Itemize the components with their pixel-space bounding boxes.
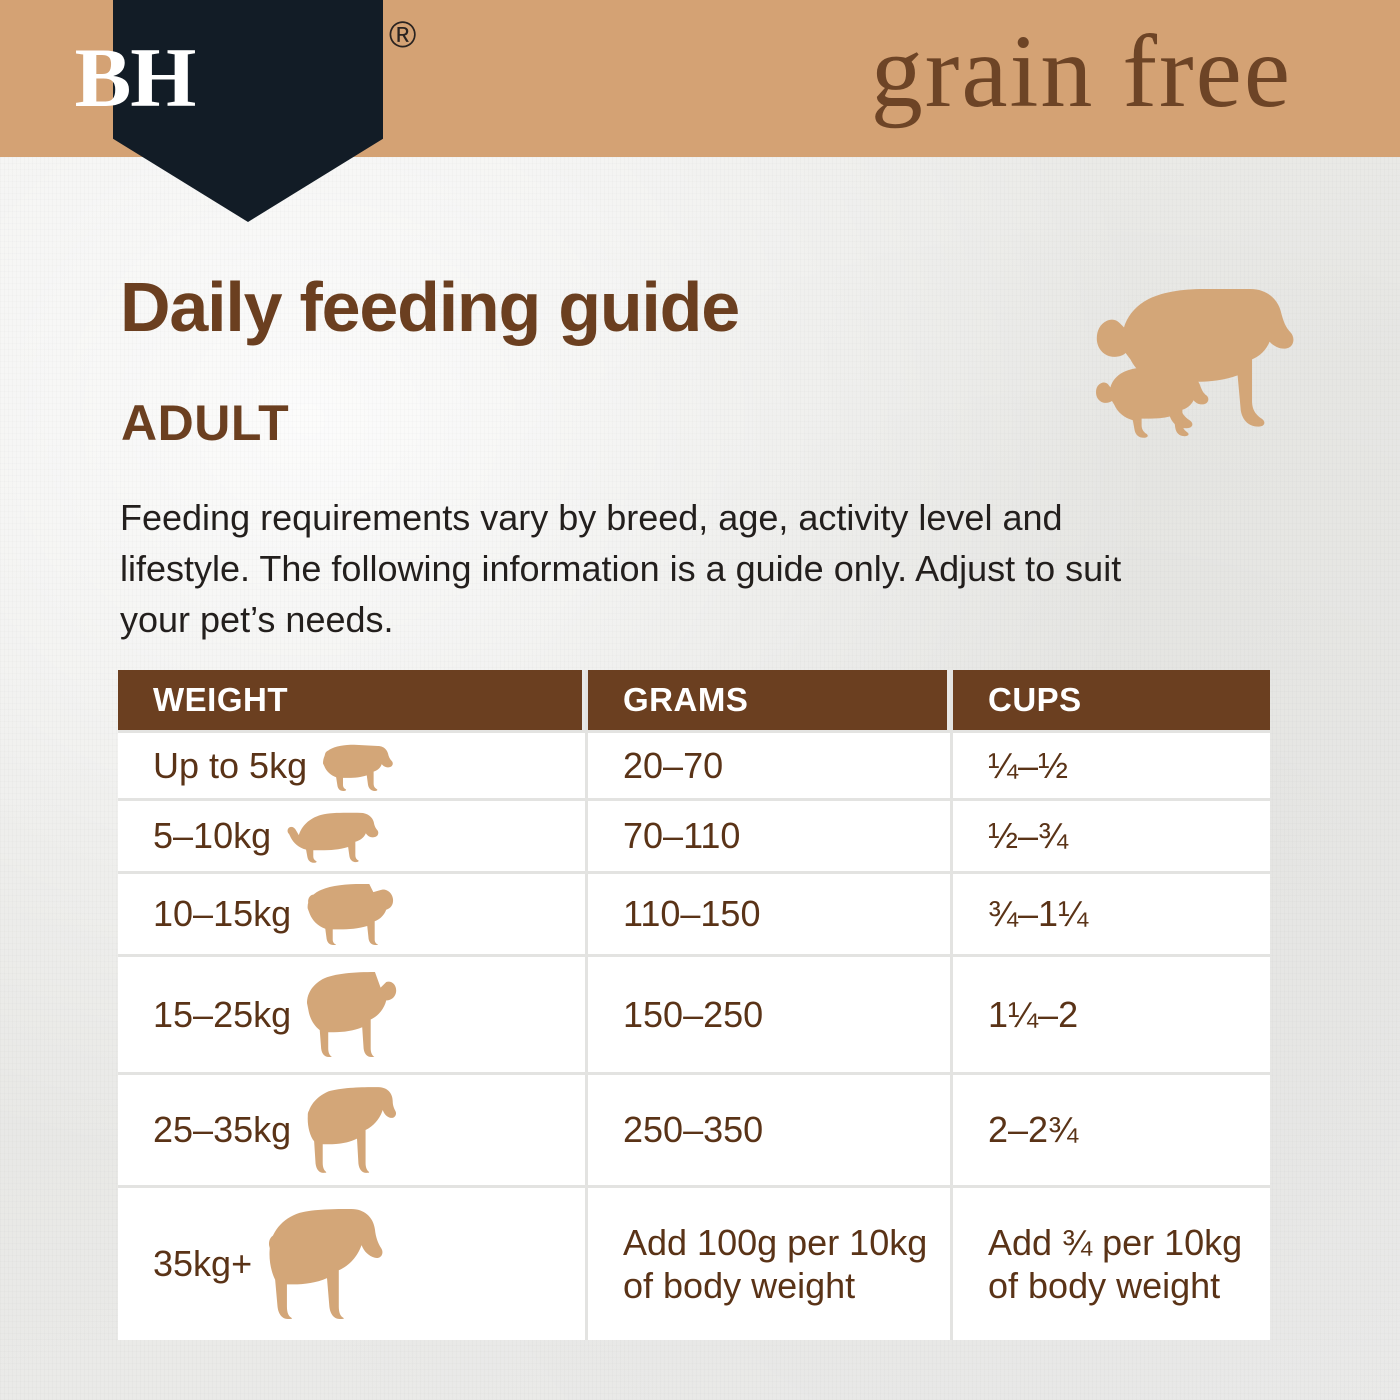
column-header-cups: CUPS: [950, 670, 1270, 730]
cell-grams: 20–70: [585, 733, 950, 798]
cell-grams: 250–350: [585, 1075, 950, 1185]
registered-trademark-icon: ®: [389, 16, 416, 53]
cell-cups: ¼–½: [950, 733, 1270, 798]
table-row: 10–15kg 110–150 ¾–1¼: [118, 871, 1270, 954]
intro-paragraph: Feeding requirements vary by breed, age,…: [120, 492, 1190, 645]
table-header-row: WEIGHT GRAMS CUPS: [118, 670, 1270, 730]
weight-label: 5–10kg: [153, 815, 271, 857]
cell-cups: ½–¾: [950, 801, 1270, 871]
cell-grams: Add 100g per 10kg of body weight: [585, 1188, 950, 1340]
cell-grams: 70–110: [585, 801, 950, 871]
brand-shield-label: BH: [0, 36, 270, 121]
weight-label: 15–25kg: [153, 994, 291, 1036]
weight-label: Up to 5kg: [153, 745, 307, 787]
small-dog-icon: [317, 741, 585, 791]
dachshund-dog-icon: [281, 810, 585, 863]
page-title: Daily feeding guide: [120, 272, 739, 342]
cell-weight: 5–10kg: [118, 801, 585, 871]
table-row: 15–25kg 150–250 1¼–2: [118, 954, 1270, 1072]
cell-weight: Up to 5kg: [118, 733, 585, 798]
cups-line-1: Add ¾ per 10kg: [988, 1221, 1242, 1264]
cups-line-2: of body weight: [988, 1264, 1220, 1307]
grams-line-2: of body weight: [623, 1264, 855, 1307]
bulldog-icon: [301, 884, 585, 945]
weight-label: 10–15kg: [153, 893, 291, 935]
table-row: Up to 5kg 20–70 ¼–½: [118, 730, 1270, 798]
extra-large-dog-icon: [262, 1209, 585, 1319]
column-header-weight: WEIGHT: [118, 670, 585, 730]
cell-cups: Add ¾ per 10kg of body weight: [950, 1188, 1270, 1340]
cell-weight: 35kg+: [118, 1188, 585, 1340]
table-row: 5–10kg 70–110 ½–¾: [118, 798, 1270, 871]
page-subtitle: ADULT: [121, 398, 289, 448]
feeding-guide-table: WEIGHT GRAMS CUPS Up to 5kg 20–70 ¼–½ 5–…: [118, 670, 1270, 1340]
grain-free-tagline: grain free: [871, 7, 1292, 137]
cell-weight: 10–15kg: [118, 874, 585, 954]
cell-cups: 1¼–2: [950, 957, 1270, 1072]
adult-dog-and-puppy-icon: [1060, 268, 1300, 454]
table-row: 25–35kg 250–350 2–2¾: [118, 1072, 1270, 1185]
cell-weight: 15–25kg: [118, 957, 585, 1072]
cell-weight: 25–35kg: [118, 1075, 585, 1185]
medium-dog-icon: [301, 972, 585, 1057]
weight-label: 25–35kg: [153, 1109, 291, 1151]
table-row: 35kg+ Add 100g per 10kg of body weight A…: [118, 1185, 1270, 1340]
column-header-grams: GRAMS: [585, 670, 950, 730]
grams-line-1: Add 100g per 10kg: [623, 1221, 927, 1264]
cell-grams: 110–150: [585, 874, 950, 954]
cell-cups: ¾–1¼: [950, 874, 1270, 954]
cell-cups: 2–2¾: [950, 1075, 1270, 1185]
cell-grams: 150–250: [585, 957, 950, 1072]
large-dog-icon: [301, 1087, 585, 1173]
weight-label: 35kg+: [153, 1243, 252, 1285]
